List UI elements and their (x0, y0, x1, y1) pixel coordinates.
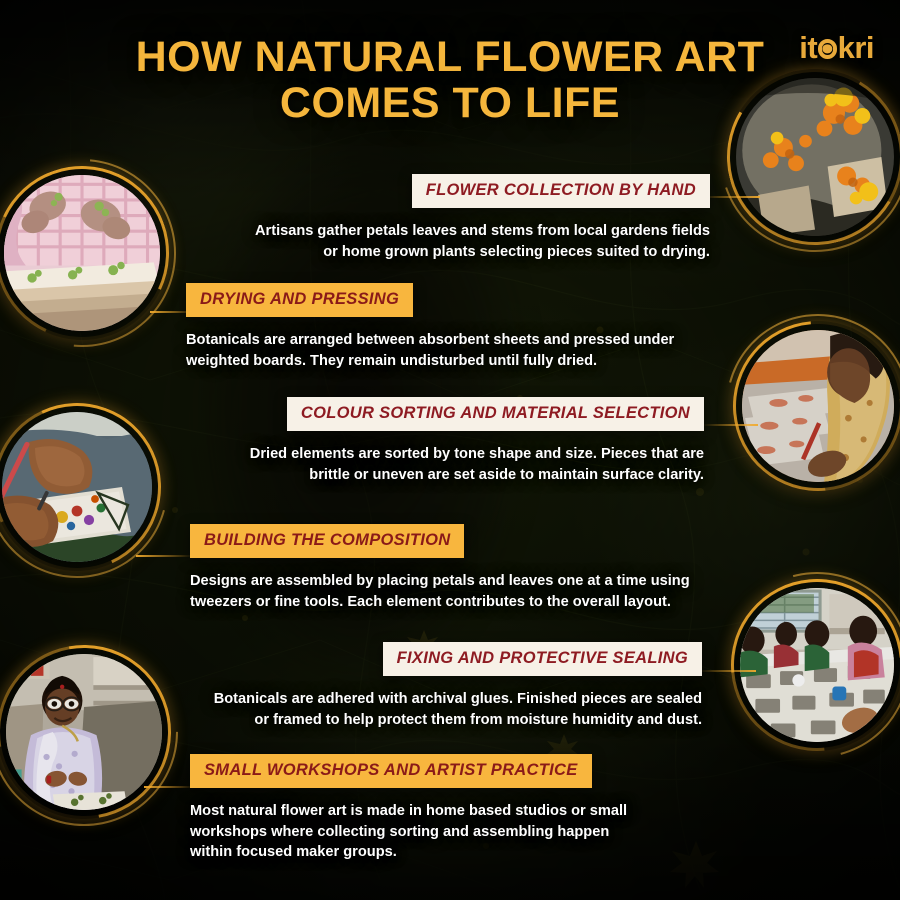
step-label-2[interactable]: DRYING AND PRESSING (186, 283, 413, 317)
step-label-1[interactable]: FLOWER COLLECTION BY HAND (412, 174, 710, 208)
step-body-6-line-2: workshops where collecting sorting and a… (190, 822, 730, 843)
step-body-1: Artisans gather petals leaves and stems … (190, 221, 710, 262)
step-body-4-line-2: tweezers or fine tools. Each element con… (190, 592, 730, 613)
step-body-2: Botanicals are arranged between absorben… (186, 330, 726, 371)
connector-line-5 (698, 670, 756, 672)
logo-text-post: kri (838, 30, 874, 65)
step-body-6: Most natural flower art is made in home … (190, 801, 730, 863)
step-body-2-line-2: weighted boards. They remain undisturbed… (186, 351, 726, 372)
step-body-6-line-3: within focused maker groups. (190, 842, 730, 863)
step-fixing-and-protective-sealing: FIXING AND PROTECTIVE SEALING Botanicals… (162, 642, 702, 730)
step-body-3: Dried elements are sorted by tone shape … (144, 444, 704, 485)
step-body-1-line-1: Artisans gather petals leaves and stems … (190, 221, 710, 242)
itokri-logo[interactable]: itkri (799, 30, 874, 66)
step-body-6-line-1: Most natural flower art is made in home … (190, 801, 730, 822)
photo-disc-2 (4, 175, 160, 331)
title-line-2: COMES TO LIFE (60, 80, 840, 126)
step-label-4[interactable]: BUILDING THE COMPOSITION (190, 524, 464, 558)
step-colour-sorting-and-material-selection: COLOUR SORTING AND MATERIAL SELECTION Dr… (144, 397, 704, 485)
connector-line-3 (702, 424, 758, 426)
title-line-1: HOW NATURAL FLOWER ART (60, 34, 840, 80)
logo-o-icon (818, 39, 837, 58)
logo-text-pre: it (799, 30, 817, 65)
step-body-5: Botanicals are adhered with archival glu… (162, 689, 702, 730)
step-label-5[interactable]: FIXING AND PROTECTIVE SEALING (383, 642, 702, 676)
step-small-workshops-and-artist-practice: SMALL WORKSHOPS AND ARTIST PRACTICE Most… (190, 754, 730, 863)
step-flower-collection-by-hand: FLOWER COLLECTION BY HAND Artisans gathe… (190, 174, 710, 262)
photo-hands-assembling-design-with-brush (2, 412, 152, 562)
step-label-3[interactable]: COLOUR SORTING AND MATERIAL SELECTION (287, 397, 704, 431)
step-body-5-line-1: Botanicals are adhered with archival glu… (162, 689, 702, 710)
step-label-6[interactable]: SMALL WORKSHOPS AND ARTIST PRACTICE (190, 754, 592, 788)
step-drying-and-pressing: DRYING AND PRESSING Botanicals are arran… (186, 283, 726, 371)
connector-line-6 (144, 786, 196, 788)
step-body-4-line-1: Designs are assembled by placing petals … (190, 571, 730, 592)
step-body-3-line-1: Dried elements are sorted by tone shape … (144, 444, 704, 465)
photo-disc-5 (740, 588, 894, 742)
step-building-the-composition: BUILDING THE COMPOSITION Designs are ass… (190, 524, 730, 612)
photo-disc-4 (2, 412, 152, 562)
step-body-4: Designs are assembled by placing petals … (190, 571, 730, 612)
photo-artisan-sorting-pressed-sheets (742, 330, 894, 482)
photo-disc-6 (6, 654, 162, 810)
step-body-1-line-2: or home grown plants selecting pieces su… (190, 242, 710, 263)
step-body-3-line-2: brittle or uneven are set aside to maint… (144, 465, 704, 486)
photo-smiling-artisan-in-lavender-sari (6, 654, 162, 810)
connector-line-4 (136, 555, 194, 557)
page-title: HOW NATURAL FLOWER ART COMES TO LIFE (0, 34, 900, 126)
photo-workshop-table-with-artisans (740, 588, 894, 742)
step-body-2-line-1: Botanicals are arranged between absorben… (186, 330, 726, 351)
photo-disc-3 (742, 330, 894, 482)
photo-hands-pressing-petals-in-paper-stack (4, 175, 160, 331)
step-body-5-line-2: or framed to help protect them from mois… (162, 710, 702, 731)
